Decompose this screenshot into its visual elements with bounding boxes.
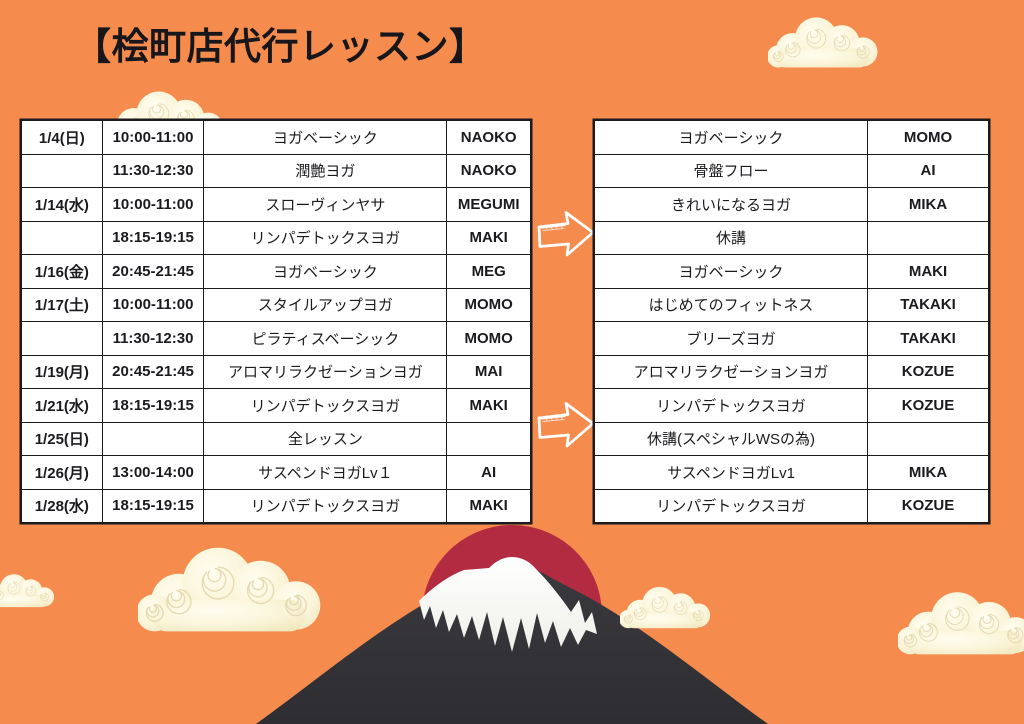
- table-row: 休講: [595, 221, 989, 255]
- cloud-bottom-left: [136, 548, 320, 632]
- cell-lesson: ヨガベーシック: [595, 121, 868, 155]
- table-row: 1/26(月) 13:00-14:00 サスペンドヨガLv１ AI: [22, 456, 531, 490]
- substitute-schedule-body: ヨガベーシック MOMO 骨盤フロー AI きれいになるヨガ MIKA 休講 ヨ…: [595, 121, 989, 523]
- cell-lesson: リンパデトックスヨガ: [595, 389, 868, 423]
- cell-lesson: 休講: [595, 221, 868, 255]
- cloud-bottom-right: [897, 592, 1024, 654]
- table-row: 1/21(水) 18:15-19:15 リンパデトックスヨガ MAKI: [22, 389, 531, 423]
- table-row: はじめてのフィットネス TAKAKI: [595, 288, 989, 322]
- cell-time: 18:15-19:15: [102, 389, 204, 423]
- table-row: ブリーズヨガ TAKAKI: [595, 322, 989, 356]
- cell-lesson: リンパデトックスヨガ: [204, 489, 447, 523]
- cell-instructor: [868, 422, 989, 456]
- cell-instructor: MIKA: [868, 188, 989, 222]
- cell-instructor: MEG: [447, 255, 531, 289]
- table-row: 1/17(土) 10:00-11:00 スタイルアップヨガ MOMO: [22, 288, 531, 322]
- cell-date: 1/14(水): [22, 188, 103, 222]
- cell-instructor: TAKAKI: [868, 322, 989, 356]
- cell-time: 13:00-14:00: [102, 456, 204, 490]
- table-row: リンパデトックスヨガ KOZUE: [595, 489, 989, 523]
- cell-instructor: NAOKO: [447, 154, 531, 188]
- cell-lesson: アロマリラクゼーションヨガ: [204, 355, 447, 389]
- cloud-edge-left: [0, 574, 54, 607]
- cell-time: 20:45-21:45: [102, 255, 204, 289]
- cell-lesson: リンパデトックスヨガ: [595, 489, 868, 523]
- cell-date: 1/16(金): [22, 255, 103, 289]
- mount-fuji-snow: [419, 557, 597, 652]
- mount-fuji-icon: [352, 565, 672, 724]
- cell-instructor: MOMO: [868, 121, 989, 155]
- table-row: きれいになるヨガ MIKA: [595, 188, 989, 222]
- cloud-top-right: [767, 17, 877, 67]
- cell-lesson: はじめてのフィットネス: [595, 288, 868, 322]
- cell-date: [22, 221, 103, 255]
- cell-date: 1/21(水): [22, 389, 103, 423]
- cell-instructor: MEGUMI: [447, 188, 531, 222]
- cell-instructor: AI: [447, 456, 531, 490]
- table-row: 11:30-12:30 ピラティスベーシック MOMO: [22, 322, 531, 356]
- cell-date: 1/25(日): [22, 422, 103, 456]
- table-row: 1/14(水) 10:00-11:00 スローヴィンヤサ MEGUMI: [22, 188, 531, 222]
- cell-lesson: きれいになるヨガ: [595, 188, 868, 222]
- cell-time: 11:30-12:30: [102, 154, 204, 188]
- cell-time: 20:45-21:45: [102, 355, 204, 389]
- cell-instructor: MAKI: [447, 221, 531, 255]
- lesson-schedule-poster: 【桧町店代行レッスン】 1/4(日) 10:00-11:00 ヨガベーシック N…: [0, 0, 1024, 724]
- table-row: リンパデトックスヨガ KOZUE: [595, 389, 989, 423]
- cell-lesson: 潤艶ヨガ: [204, 154, 447, 188]
- rising-sun-icon: [422, 525, 602, 705]
- cell-time: 11:30-12:30: [102, 322, 204, 356]
- cell-lesson: ヨガベーシック: [204, 255, 447, 289]
- cell-lesson: ピラティスベーシック: [204, 322, 447, 356]
- cell-instructor: MAKI: [447, 389, 531, 423]
- cell-instructor: MAKI: [447, 489, 531, 523]
- table-row: アロマリラクゼーションヨガ KOZUE: [595, 355, 989, 389]
- cell-instructor: [868, 221, 989, 255]
- cell-date: 1/26(月): [22, 456, 103, 490]
- cell-lesson: スタイルアップヨガ: [204, 288, 447, 322]
- table-row: 11:30-12:30 潤艶ヨガ NAOKO: [22, 154, 531, 188]
- table-row: 18:15-19:15 リンパデトックスヨガ MAKI: [22, 221, 531, 255]
- cell-time: 10:00-11:00: [102, 188, 204, 222]
- cell-date: 1/28(水): [22, 489, 103, 523]
- substitution-arrow-bottom: [535, 399, 597, 451]
- cell-lesson: ヨガベーシック: [595, 255, 868, 289]
- table-row: 休講(スペシャルWSの為): [595, 422, 989, 456]
- cell-lesson: スローヴィンヤサ: [204, 188, 447, 222]
- substitution-arrow-top: [535, 208, 597, 260]
- cell-instructor: MOMO: [447, 322, 531, 356]
- cell-date: [22, 154, 103, 188]
- cell-date: 1/4(日): [22, 121, 103, 155]
- cell-date: [22, 322, 103, 356]
- cell-date: 1/17(土): [22, 288, 103, 322]
- cell-instructor: AI: [868, 154, 989, 188]
- cell-lesson: サスペンドヨガLv1: [595, 456, 868, 490]
- cell-time: 10:00-11:00: [102, 288, 204, 322]
- cell-lesson: アロマリラクゼーションヨガ: [595, 355, 868, 389]
- cell-lesson: 骨盤フロー: [595, 154, 868, 188]
- cell-lesson: 休講(スペシャルWSの為): [595, 422, 868, 456]
- table-row: 1/25(日) 全レッスン: [22, 422, 531, 456]
- table-row: 1/16(金) 20:45-21:45 ヨガベーシック MEG: [22, 255, 531, 289]
- table-row: ヨガベーシック MOMO: [595, 121, 989, 155]
- cell-lesson: ブリーズヨガ: [595, 322, 868, 356]
- original-schedule-table: 1/4(日) 10:00-11:00 ヨガベーシック NAOKO 11:30-1…: [21, 120, 531, 523]
- cell-instructor: [447, 422, 531, 456]
- cell-lesson: 全レッスン: [204, 422, 447, 456]
- cell-instructor: KOZUE: [868, 489, 989, 523]
- cell-lesson: ヨガベーシック: [204, 121, 447, 155]
- cell-time: [102, 422, 204, 456]
- cell-instructor: MIKA: [868, 456, 989, 490]
- cell-instructor: MOMO: [447, 288, 531, 322]
- page-title: 【桧町店代行レッスン】: [74, 16, 487, 70]
- cell-lesson: リンパデトックスヨガ: [204, 221, 447, 255]
- cloud-bottom-mid: [619, 587, 710, 628]
- table-row: 1/19(月) 20:45-21:45 アロマリラクゼーションヨガ MAI: [22, 355, 531, 389]
- cell-instructor: MAI: [447, 355, 531, 389]
- cell-time: 18:15-19:15: [102, 221, 204, 255]
- cell-time: 10:00-11:00: [102, 121, 204, 155]
- substitute-schedule-table: ヨガベーシック MOMO 骨盤フロー AI きれいになるヨガ MIKA 休講 ヨ…: [594, 120, 989, 523]
- original-schedule-body: 1/4(日) 10:00-11:00 ヨガベーシック NAOKO 11:30-1…: [22, 121, 531, 523]
- table-row: 1/28(水) 18:15-19:15 リンパデトックスヨガ MAKI: [22, 489, 531, 523]
- table-row: 1/4(日) 10:00-11:00 ヨガベーシック NAOKO: [22, 121, 531, 155]
- table-row: サスペンドヨガLv1 MIKA: [595, 456, 989, 490]
- table-row: ヨガベーシック MAKI: [595, 255, 989, 289]
- cell-date: 1/19(月): [22, 355, 103, 389]
- cell-instructor: MAKI: [868, 255, 989, 289]
- cell-instructor: KOZUE: [868, 389, 989, 423]
- cell-lesson: サスペンドヨガLv１: [204, 456, 447, 490]
- cell-instructor: NAOKO: [447, 121, 531, 155]
- cell-instructor: KOZUE: [868, 355, 989, 389]
- cell-instructor: TAKAKI: [868, 288, 989, 322]
- cell-lesson: リンパデトックスヨガ: [204, 389, 447, 423]
- cell-time: 18:15-19:15: [102, 489, 204, 523]
- table-row: 骨盤フロー AI: [595, 154, 989, 188]
